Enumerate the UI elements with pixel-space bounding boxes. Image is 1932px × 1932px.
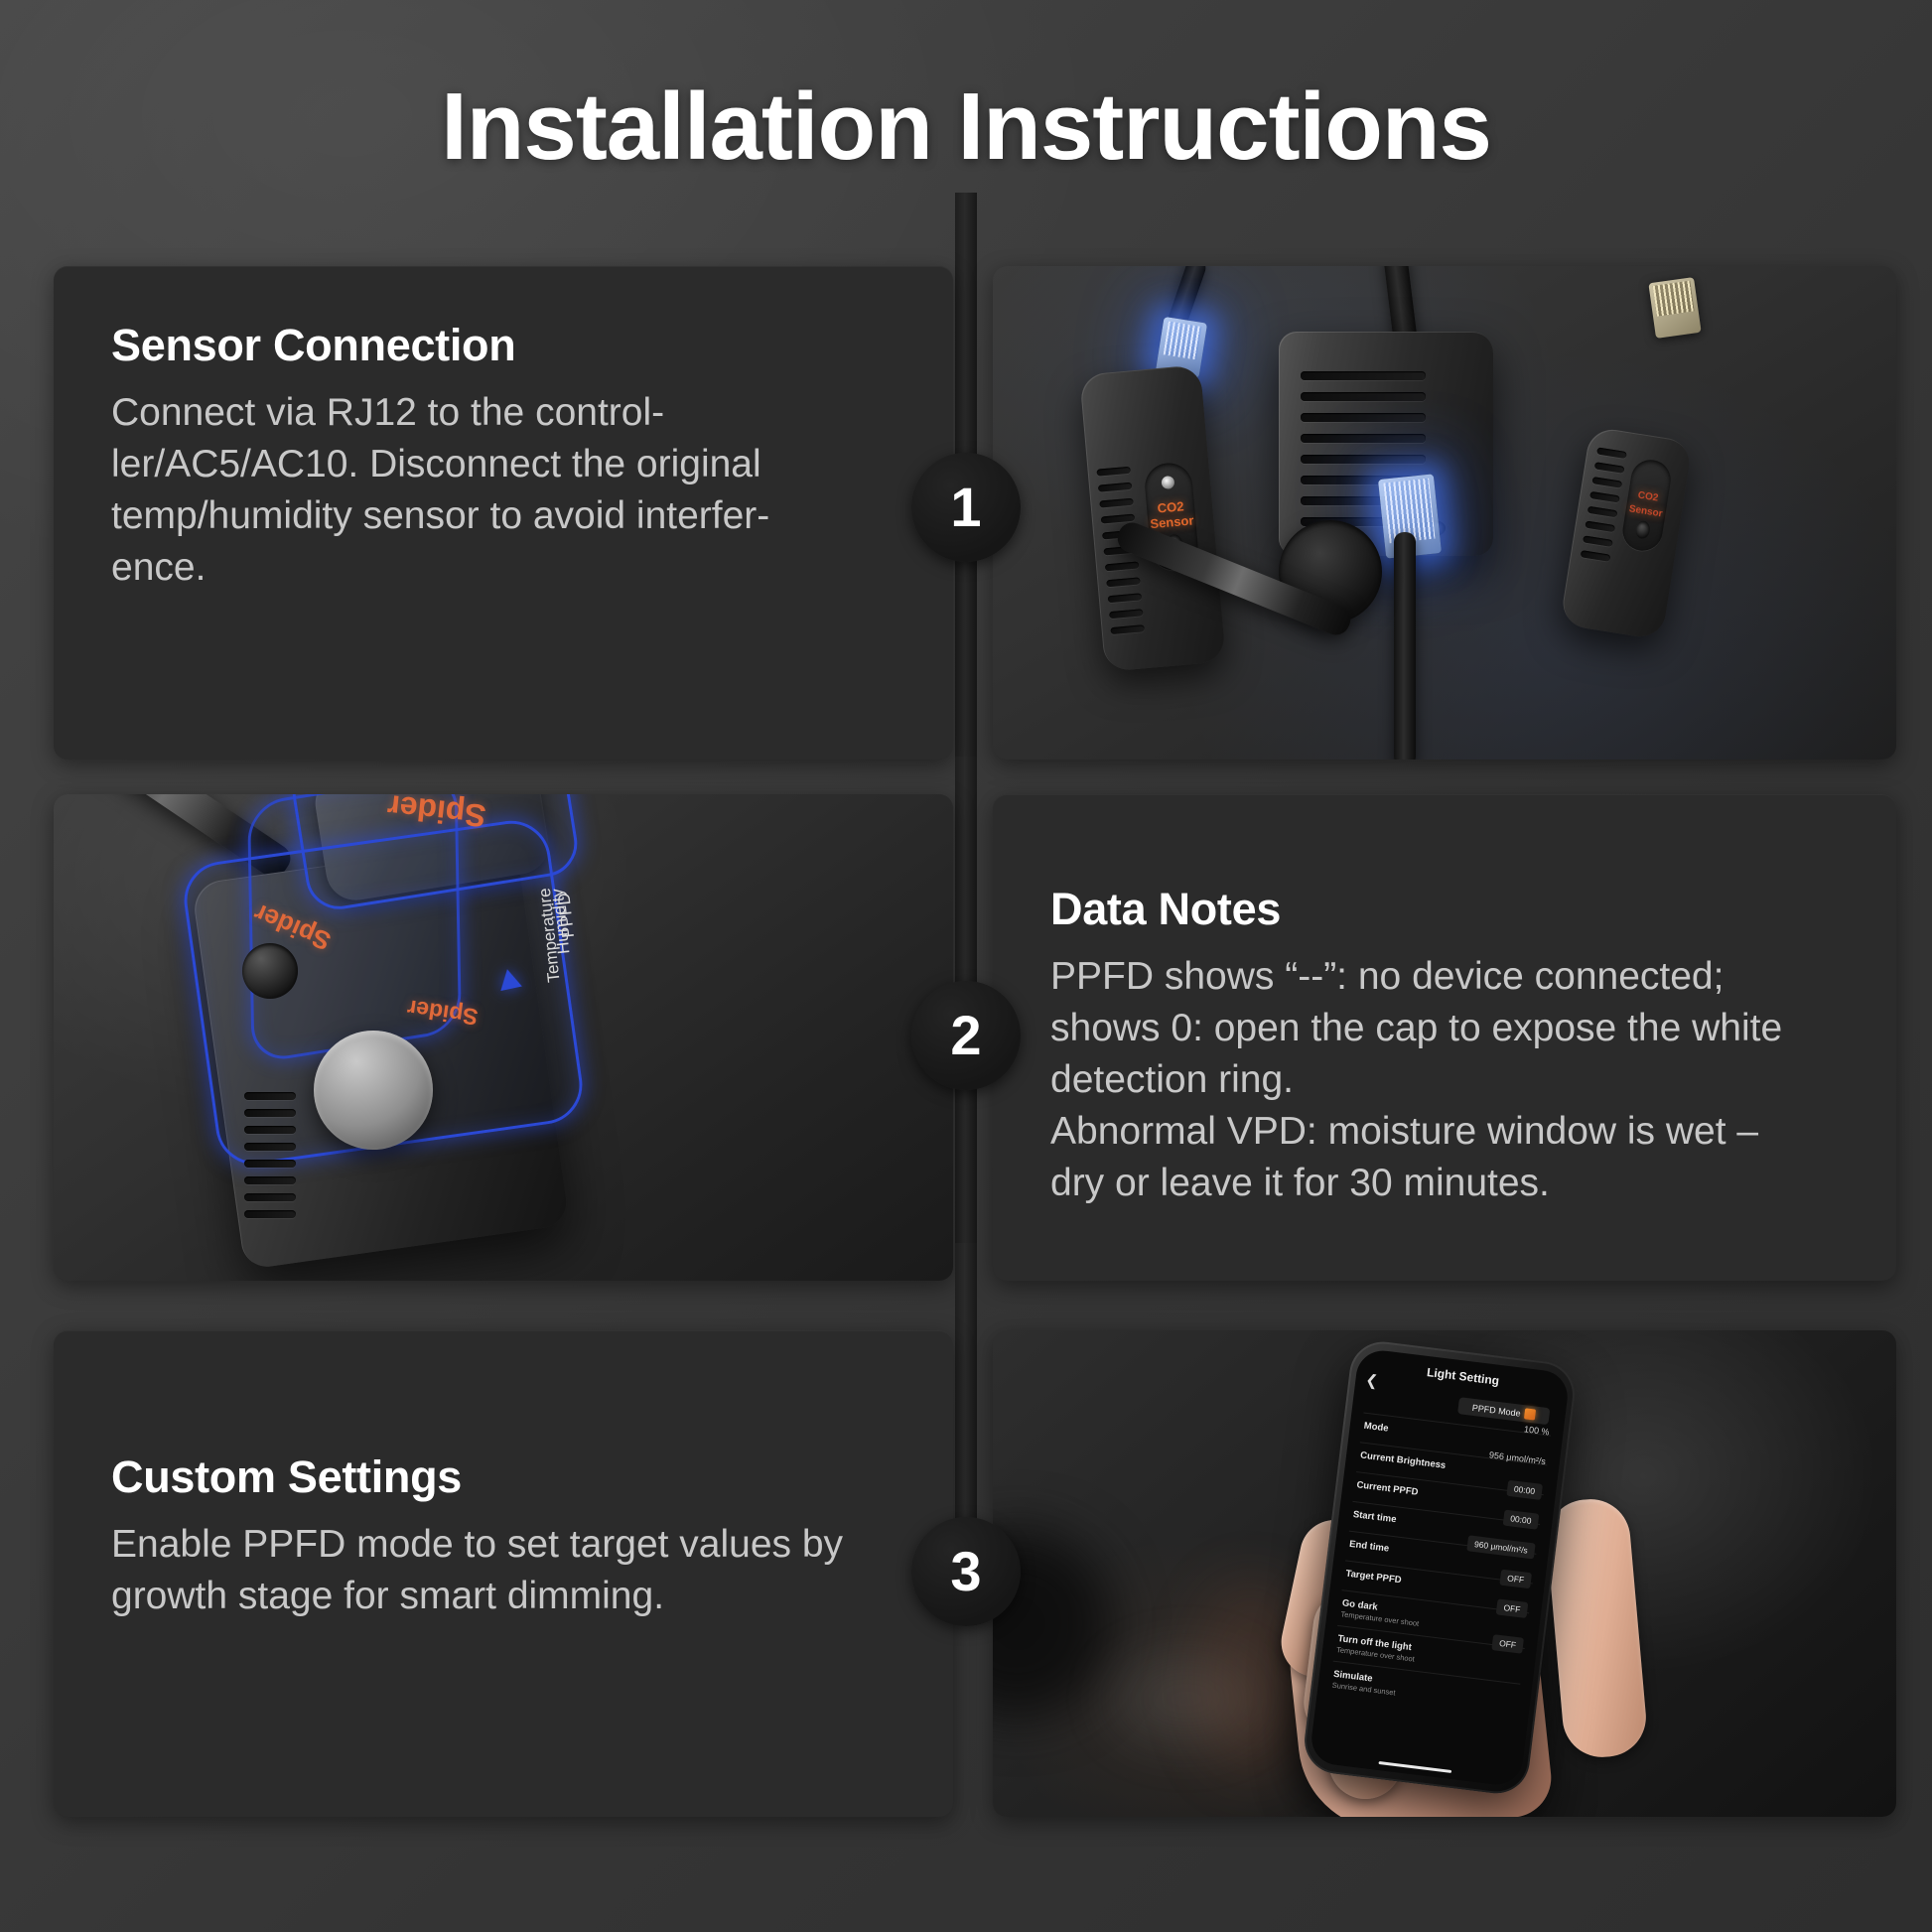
phone-screen-title: Light Setting bbox=[1368, 1349, 1558, 1395]
sensor-mount-hole-icon bbox=[242, 943, 298, 999]
settings-row-value-pill[interactable]: 00:00 bbox=[1502, 1510, 1539, 1530]
home-indicator bbox=[1378, 1761, 1451, 1773]
step-badge-1: 1 bbox=[911, 453, 1021, 562]
step-row-3: Custom Settings Enable PPFD mode to set … bbox=[0, 1330, 1932, 1817]
illustration-sensor-top-view: Spider Spider Spider Spider PPFD Humidit… bbox=[54, 794, 953, 1281]
settings-row-value-pill[interactable]: OFF bbox=[1491, 1634, 1524, 1654]
step-3-body: Enable PPFD mode to set target values by… bbox=[111, 1519, 896, 1622]
thumb bbox=[1544, 1496, 1649, 1760]
step-card-2-text: Data Notes PPFD shows “--”: no device co… bbox=[993, 794, 1896, 1281]
step-2-heading: Data Notes bbox=[1050, 882, 1839, 937]
step-3-heading: Custom Settings bbox=[111, 1449, 896, 1505]
sensor-detection-ring bbox=[314, 1031, 433, 1150]
rj12-plug-right bbox=[1648, 277, 1701, 339]
step-row-1: Sensor Connection Connect via RJ12 to th… bbox=[0, 266, 1932, 759]
indicator-led-icon bbox=[1161, 476, 1174, 489]
ppfd-mode-chip[interactable]: PPFD Mode bbox=[1457, 1397, 1550, 1425]
step-card-2-image: Spider Spider Spider Spider PPFD Humidit… bbox=[54, 794, 953, 1281]
illustration-sensor-connection: CO2 Sensor bbox=[993, 266, 1896, 759]
settings-row-value: 100 % bbox=[1524, 1424, 1551, 1437]
back-chevron-left-icon[interactable]: ❮ bbox=[1364, 1371, 1379, 1390]
sensor-module-co2: CO2 Sensor bbox=[1079, 364, 1226, 671]
settings-row-value-pill[interactable]: OFF bbox=[1496, 1598, 1529, 1618]
step-badge-3: 3 bbox=[911, 1517, 1021, 1626]
step-card-1-text: Sensor Connection Connect via RJ12 to th… bbox=[54, 266, 953, 759]
step-row-2: Spider Spider Spider Spider PPFD Humidit… bbox=[0, 794, 1932, 1281]
page-title: Installation Instructions bbox=[0, 68, 1932, 187]
step-1-body: Connect via RJ12 to the control- ler/AC5… bbox=[111, 387, 896, 594]
phone-screen: Light Setting ❮ PPFD Mode Mode100 %Curre… bbox=[1309, 1348, 1571, 1788]
vent-grille-right bbox=[1581, 447, 1627, 561]
sensor-module-right: CO2 Sensor bbox=[1560, 426, 1693, 640]
step-2-body: PPFD shows “--”: no device connected; sh… bbox=[1050, 951, 1839, 1209]
ppfd-mode-label: PPFD Mode bbox=[1471, 1402, 1521, 1418]
illustration-app-settings: Light Setting ❮ PPFD Mode Mode100 %Curre… bbox=[993, 1330, 1896, 1817]
ppfd-mode-toggle-icon[interactable] bbox=[1524, 1408, 1536, 1420]
settings-row-value-pill[interactable]: 00:00 bbox=[1506, 1480, 1543, 1500]
co2-sensor-label: CO2 Sensor bbox=[1147, 497, 1196, 531]
settings-list: Mode100 %Current Brightness956 μmol/m²/s… bbox=[1328, 1413, 1551, 1720]
cable-center-bottom bbox=[1394, 532, 1416, 759]
right-sensor-label: CO2 Sensor bbox=[1625, 486, 1669, 522]
right-sensor-window: CO2 Sensor bbox=[1620, 457, 1674, 553]
right-sensor-lens-icon bbox=[1634, 520, 1651, 540]
step-card-1-image: CO2 Sensor bbox=[993, 266, 1896, 759]
step-card-3-text: Custom Settings Enable PPFD mode to set … bbox=[54, 1330, 953, 1817]
settings-row-value-pill[interactable]: OFF bbox=[1499, 1570, 1532, 1589]
step-1-heading: Sensor Connection bbox=[111, 318, 896, 373]
step-badge-2: 2 bbox=[911, 981, 1021, 1090]
vent-grille-bottom bbox=[244, 1092, 296, 1218]
step-card-3-image: Light Setting ❮ PPFD Mode Mode100 %Curre… bbox=[993, 1330, 1896, 1817]
